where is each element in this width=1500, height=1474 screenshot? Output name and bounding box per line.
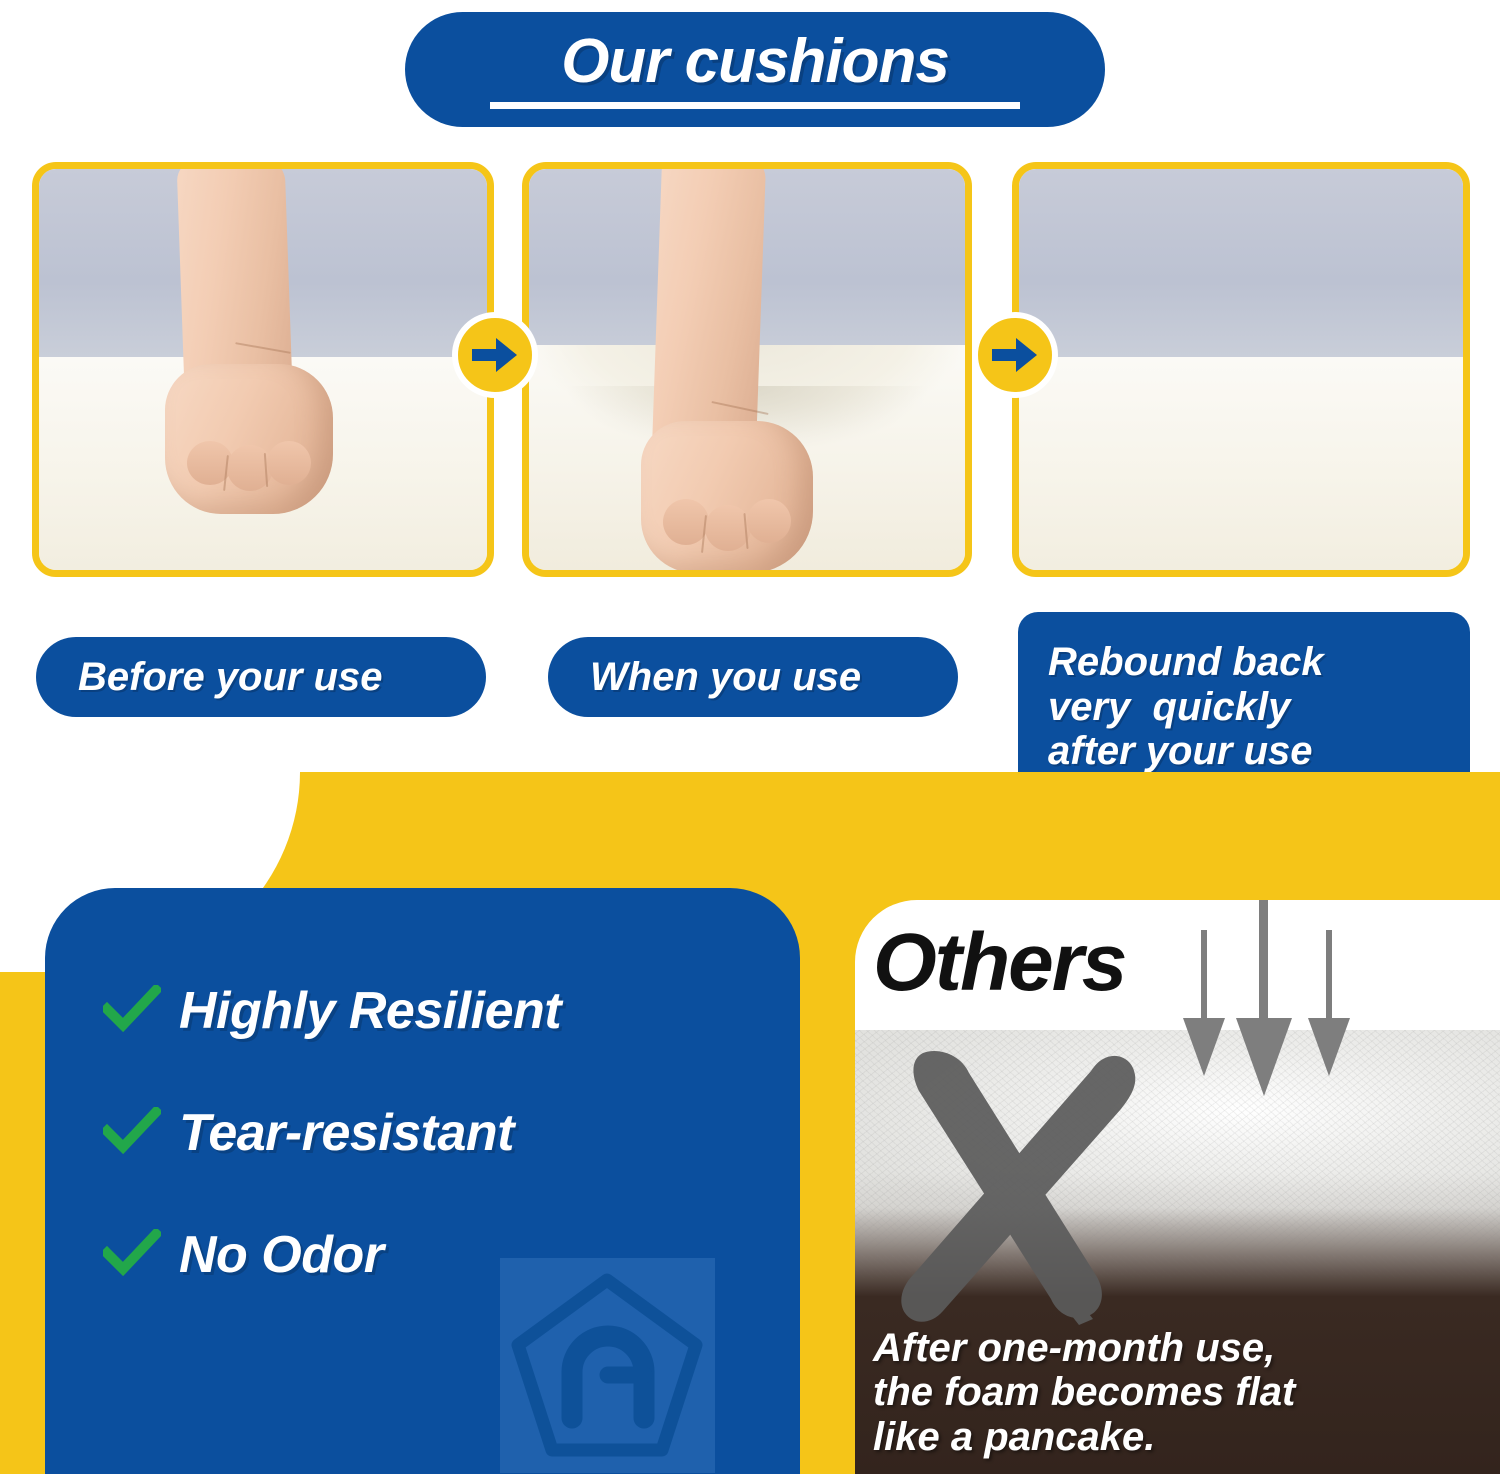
brush-x-icon [865,1045,1165,1340]
page-title-pill: Our cushions [405,12,1105,127]
page-title: Our cushions [541,31,969,93]
foam-surface-restored [1019,357,1463,570]
check-icon [103,1229,163,1282]
caption-line-1: Rebound back [1048,640,1324,685]
feature-label: No Odor [179,1225,383,1285]
feature-label: Tear-resistant [179,1103,514,1163]
check-glyph [103,985,161,1033]
step-photo-card-before [32,162,494,577]
photo-rebound-back [1019,169,1463,570]
arrow-down-icon-group [1155,900,1455,1135]
caption-text: When you use [590,655,861,700]
title-underline [490,102,1020,109]
caption-text: Before your use [78,655,383,700]
step-photo-card-during [522,162,972,577]
step-photo-card-after [1012,162,1470,577]
caption-when-you-use: When you use [548,637,958,717]
others-title: Others [873,922,1125,1004]
caption-line-2: very quickly [1048,685,1290,730]
arrow-right-icon [452,312,538,398]
bottom-comparison-section: Highly Resilient Tear-resistant No Odor [0,772,1500,1474]
feature-item-highly-resilient: Highly Resilient [103,950,763,1072]
arrow-right-glyph [470,335,520,375]
pentagon-house-brand-icon [500,1258,715,1473]
check-glyph [103,1229,161,1277]
knuckle-shape [747,499,791,543]
others-comparison-panel: Others [855,900,1500,1474]
check-icon [103,1107,163,1160]
others-caption-line-1: After one-month use, [873,1326,1493,1371]
feature-label: Highly Resilient [179,981,561,1041]
arm-shape [652,169,766,457]
others-caption-line-3: like a pancake. [873,1415,1493,1460]
feature-item-tear-resistant: Tear-resistant [103,1072,763,1194]
check-glyph [103,1107,161,1155]
brand-glyph [500,1258,715,1473]
caption-before-your-use: Before your use [36,637,486,717]
fist-shape [165,364,333,514]
photo-before-your-use [39,169,487,570]
others-caption-line-2: the foam becomes flat [873,1370,1493,1415]
arrow-right-icon [972,312,1058,398]
knuckle-shape [267,441,311,485]
top-comparison-section: Our cushions [0,0,1500,800]
brush-x-glyph [865,1045,1165,1335]
check-icon [103,985,163,1038]
photo-backdrop [1019,169,1463,357]
arrow-right-glyph [990,335,1040,375]
our-features-panel: Highly Resilient Tear-resistant No Odor [45,888,800,1474]
arrow-down-glyphs [1155,900,1455,1130]
caption-line-3: after your use [1048,729,1313,774]
photo-when-you-use [529,169,965,570]
others-caption: After one-month use, the foam becomes fl… [873,1326,1493,1460]
